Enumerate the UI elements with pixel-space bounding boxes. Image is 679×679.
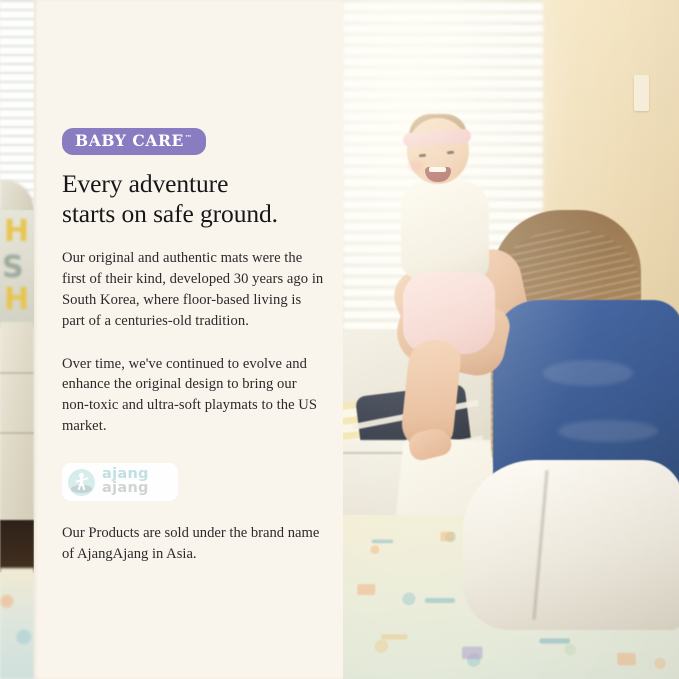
headline-line-2: starts on safe ground. xyxy=(62,199,278,228)
left-strip-letter-2: S xyxy=(2,250,24,285)
baby-care-brand-badge: BABY CARE™ xyxy=(62,128,206,155)
headline-line-1: Every adventure xyxy=(62,169,228,198)
badge-text-before-c: BABY xyxy=(75,131,132,150)
mat-shape xyxy=(425,598,455,603)
body-paragraph-2: Over time, we've continued to evolve and… xyxy=(62,354,324,437)
product-lifestyle-graphic: H S H BABY CARE™ Every adventure starts … xyxy=(0,0,679,679)
mother-white-jeans xyxy=(463,460,679,630)
ajangajang-wordmark: ajang ajang xyxy=(102,468,149,496)
left-photo-strip: H S H xyxy=(0,0,34,679)
page-headline: Every adventure starts on safe ground. xyxy=(62,169,324,230)
badge-text-after-c: ARE xyxy=(145,131,184,150)
shirt-fold xyxy=(543,360,633,386)
trademark-symbol: ™ xyxy=(185,133,193,142)
mat-shape xyxy=(372,539,394,543)
ajangajang-mark-icon xyxy=(68,469,95,496)
brand-footnote: Our Products are sold under the brand na… xyxy=(62,523,324,565)
mat-shape xyxy=(462,647,483,659)
shirt-fold xyxy=(558,420,658,442)
left-strip-seam-1 xyxy=(0,372,34,374)
lifestyle-photo xyxy=(343,0,679,679)
left-strip-playmat xyxy=(0,568,34,679)
body-paragraph-1: Our original and authentic mats were the… xyxy=(62,248,324,331)
person-figure-icon xyxy=(75,473,88,488)
mat-shape xyxy=(440,532,454,542)
mat-shape xyxy=(617,653,636,665)
baby-cheek xyxy=(409,160,423,172)
left-strip-seam-2 xyxy=(0,432,34,434)
left-strip-letter-1: H xyxy=(4,214,29,249)
mat-shape xyxy=(381,634,408,639)
badge-c-letter: C xyxy=(132,133,145,149)
text-panel: BABY CARE™ Every adventure starts on saf… xyxy=(34,0,343,679)
baby-teeth xyxy=(429,167,446,172)
ajangajang-logo: ajang ajang xyxy=(62,463,178,501)
wordmark-line-2: ajang xyxy=(102,482,149,496)
left-strip-sofa-body xyxy=(0,322,34,522)
text-panel-content: BABY CARE™ Every adventure starts on saf… xyxy=(62,0,324,565)
mat-shape xyxy=(539,638,570,643)
left-strip-letter-3: H xyxy=(4,282,29,317)
baby-white-top xyxy=(401,180,489,280)
left-strip-floor xyxy=(0,520,34,572)
left-strip-blinds xyxy=(0,0,34,208)
wall-outlet xyxy=(634,75,649,111)
mat-shape xyxy=(357,584,376,595)
